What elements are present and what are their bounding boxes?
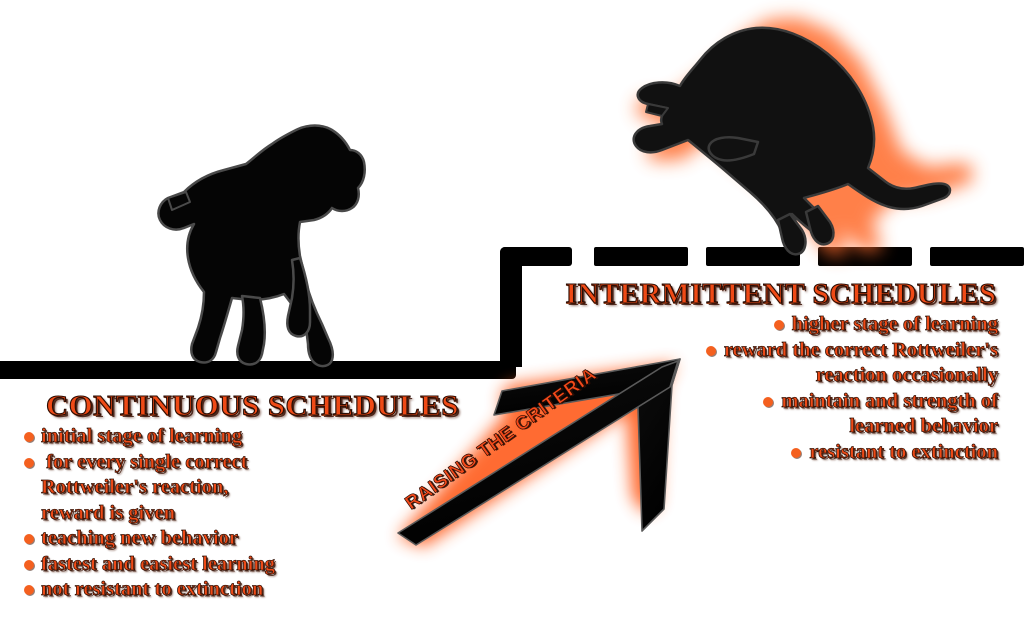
bullet-dot-icon xyxy=(763,397,773,407)
infographic-canvas: RAISING THE CRITERIA CONTINUOUS SCHEDULE… xyxy=(0,0,1024,630)
intermittent-schedules-heading: INTERMITTENT SCHEDULES xyxy=(565,278,996,311)
bullet-dot-icon xyxy=(24,585,34,595)
list-item-label: resistant to extinction xyxy=(809,441,998,463)
list-item-label: initial stage of learning xyxy=(41,425,242,447)
bullet-dot-icon xyxy=(24,560,34,570)
list-item-label: reward the correct Rottweiler's xyxy=(724,339,998,361)
list-item: initial stage of learning xyxy=(24,424,275,450)
list-item: teaching new behavior xyxy=(24,526,275,552)
bullet-dot-icon xyxy=(791,448,801,458)
list-item: reward the correct Rottweiler's xyxy=(706,338,998,364)
list-item: learned behavior xyxy=(706,414,998,440)
bullet-dot-icon xyxy=(24,534,34,544)
arrow-shape xyxy=(380,345,700,550)
step-riser-top xyxy=(500,247,572,266)
list-item-label: reaction occasionally xyxy=(816,364,998,386)
list-item-label: higher stage of learning xyxy=(792,313,998,335)
list-item-label: fastest and easiest learning xyxy=(41,553,275,575)
intermittent-schedules-list: higher stage of learningreward the corre… xyxy=(706,312,998,465)
bullet-dot-icon xyxy=(706,346,716,356)
list-item-label: for every single correct xyxy=(41,451,247,473)
list-item: reaction occasionally xyxy=(706,363,998,389)
list-item-label: not resistant to extinction xyxy=(41,578,263,600)
list-item: for every single correct xyxy=(24,450,275,476)
list-item: higher stage of learning xyxy=(706,312,998,338)
continuous-schedules-list: initial stage of learning for every sing… xyxy=(24,424,275,603)
list-item-label: Rottweiler's reaction, xyxy=(41,476,228,498)
list-item: resistant to extinction xyxy=(706,440,998,466)
bullet-dot-icon xyxy=(24,458,34,468)
list-item: not resistant to extinction xyxy=(24,577,275,603)
list-item-label: reward is given xyxy=(41,502,175,524)
list-item: reward is given xyxy=(24,501,275,527)
bullet-dot-icon xyxy=(774,320,784,330)
list-item: maintain and strength of xyxy=(706,389,998,415)
list-item: Rottweiler's reaction, xyxy=(24,475,275,501)
bullet-dot-icon xyxy=(24,432,34,442)
list-item: fastest and easiest learning xyxy=(24,552,275,578)
standing-dog-silhouette xyxy=(150,122,382,370)
list-item-label: teaching new behavior xyxy=(41,527,238,549)
raising-the-criteria-arrow: RAISING THE CRITERIA xyxy=(380,345,700,550)
jumping-dog-silhouette xyxy=(622,8,962,258)
continuous-schedules-heading: CONTINUOUS SCHEDULES xyxy=(46,390,459,423)
list-item-label: maintain and strength of xyxy=(781,390,998,412)
list-item-label: learned behavior xyxy=(849,415,998,437)
